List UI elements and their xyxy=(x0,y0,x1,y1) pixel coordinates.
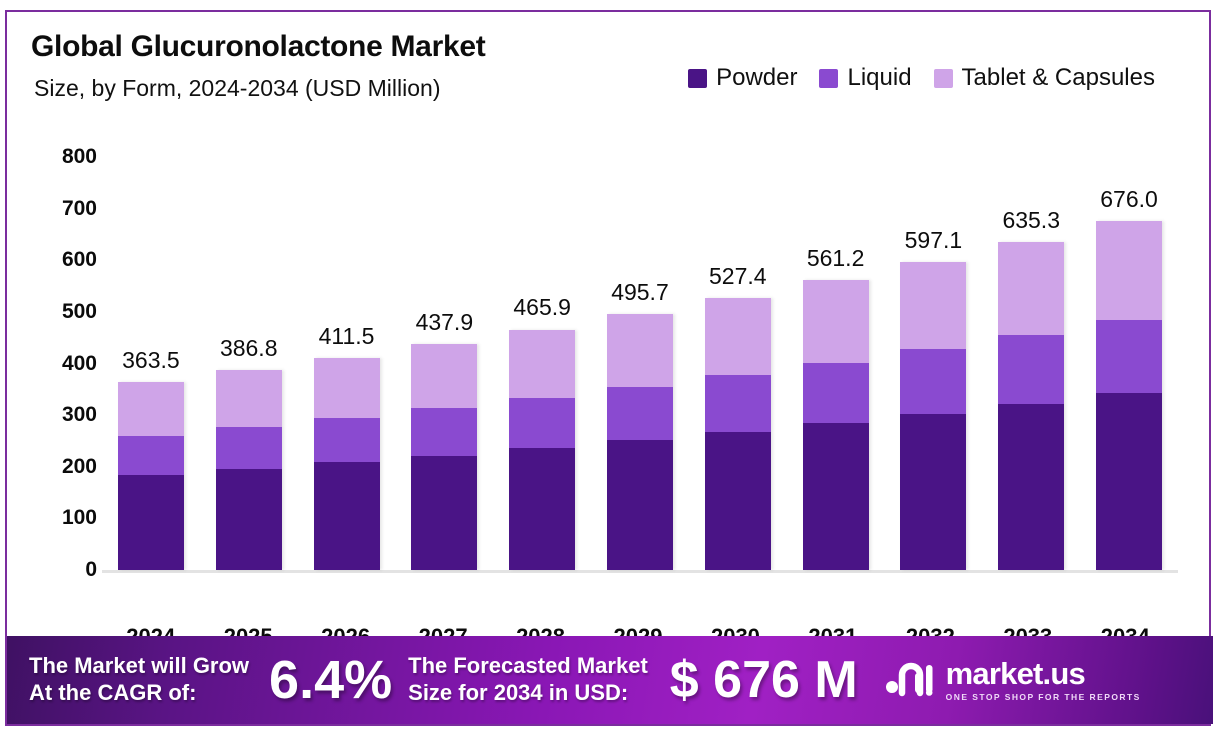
legend-item-tablet-capsules[interactable]: Tablet & Capsules xyxy=(934,64,1155,92)
bar-group[interactable]: 363.5 xyxy=(102,122,200,622)
stacked-bar[interactable] xyxy=(998,242,1064,570)
stacked-bar[interactable] xyxy=(1096,221,1162,570)
bar-value-label: 561.2 xyxy=(807,245,865,272)
legend-item-powder[interactable]: Powder xyxy=(688,64,797,92)
market-us-logo-icon xyxy=(884,659,936,702)
legend-item-liquid[interactable]: Liquid xyxy=(819,64,911,92)
chart-infographic: Global Glucuronolactone Market Size, by … xyxy=(0,0,1216,736)
cagr-value: 6.4% xyxy=(269,649,392,711)
bar-group[interactable]: 597.1 xyxy=(885,122,983,622)
legend-swatch-icon xyxy=(934,69,953,88)
bar-segment-liquid[interactable] xyxy=(803,363,869,424)
summary-banner: The Market will Grow At the CAGR of: 6.4… xyxy=(7,636,1213,724)
chart-legend: PowderLiquidTablet & Capsules xyxy=(688,64,1155,92)
bar-segment-powder[interactable] xyxy=(803,423,869,570)
stacked-bar[interactable] xyxy=(509,330,575,571)
bar-group[interactable]: 465.9 xyxy=(493,122,591,622)
bar-series-container: 363.5386.8411.5437.9465.9495.7527.4561.2… xyxy=(102,122,1178,622)
stacked-bar[interactable] xyxy=(216,370,282,570)
bar-segment-powder[interactable] xyxy=(216,469,282,570)
legend-swatch-icon xyxy=(819,69,838,88)
stacked-bar[interactable] xyxy=(803,280,869,570)
bar-segment-liquid[interactable] xyxy=(705,375,771,432)
legend-label: Liquid xyxy=(847,64,911,92)
legend-label: Tablet & Capsules xyxy=(962,64,1155,92)
chart-plot-area: 8007006005004003002001000 363.5386.8411.… xyxy=(7,122,1213,622)
bar-group[interactable]: 437.9 xyxy=(395,122,493,622)
bar-value-label: 597.1 xyxy=(905,227,963,254)
bar-segment-liquid[interactable] xyxy=(509,398,575,448)
bar-value-label: 527.4 xyxy=(709,263,767,290)
y-axis-tick: 0 xyxy=(17,558,97,582)
bar-segment-liquid[interactable] xyxy=(118,436,184,475)
stacked-bar[interactable] xyxy=(118,382,184,570)
forecast-label: The Forecasted Market Size for 2034 in U… xyxy=(408,653,648,707)
y-axis-tick: 400 xyxy=(17,352,97,376)
bar-segment-liquid[interactable] xyxy=(900,349,966,413)
cagr-label-line1: The Market will Grow xyxy=(29,653,249,680)
logo-name: market.us xyxy=(946,658,1141,689)
chart-frame: Global Glucuronolactone Market Size, by … xyxy=(5,10,1211,726)
cagr-label: The Market will Grow At the CAGR of: xyxy=(29,653,249,707)
bar-segment-tablet-capsules[interactable] xyxy=(998,242,1064,335)
stacked-bar[interactable] xyxy=(900,262,966,570)
cagr-label-line2: At the CAGR of: xyxy=(29,680,249,707)
bar-segment-tablet-capsules[interactable] xyxy=(705,298,771,375)
bar-value-label: 437.9 xyxy=(416,309,474,336)
bar-segment-tablet-capsules[interactable] xyxy=(118,382,184,435)
bar-segment-powder[interactable] xyxy=(705,432,771,570)
bar-value-label: 676.0 xyxy=(1100,186,1158,213)
legend-swatch-icon xyxy=(688,69,707,88)
bar-segment-tablet-capsules[interactable] xyxy=(216,370,282,427)
forecast-label-line2: Size for 2034 in USD: xyxy=(408,680,648,707)
bar-value-label: 635.3 xyxy=(1002,207,1060,234)
y-axis: 8007006005004003002001000 xyxy=(7,122,97,622)
forecast-label-line1: The Forecasted Market xyxy=(408,653,648,680)
bar-segment-tablet-capsules[interactable] xyxy=(411,344,477,408)
market-us-logo[interactable]: market.us ONE STOP SHOP FOR THE REPORTS xyxy=(884,658,1141,702)
bar-value-label: 386.8 xyxy=(220,335,278,362)
bar-group[interactable]: 676.0 xyxy=(1080,122,1178,622)
y-axis-tick: 100 xyxy=(17,506,97,530)
bar-group[interactable]: 527.4 xyxy=(689,122,787,622)
stacked-bar[interactable] xyxy=(314,358,380,570)
bar-segment-powder[interactable] xyxy=(411,456,477,570)
chart-header: Global Glucuronolactone Market Size, by … xyxy=(7,12,1209,122)
bar-segment-powder[interactable] xyxy=(314,462,380,570)
y-axis-tick: 700 xyxy=(17,197,97,221)
stacked-bar[interactable] xyxy=(607,314,673,570)
bar-segment-powder[interactable] xyxy=(607,440,673,570)
bar-value-label: 411.5 xyxy=(319,323,375,350)
market-us-logo-text: market.us ONE STOP SHOP FOR THE REPORTS xyxy=(946,658,1141,702)
bar-group[interactable]: 495.7 xyxy=(591,122,689,622)
page-title: Global Glucuronolactone Market xyxy=(31,30,485,64)
bar-group[interactable]: 561.2 xyxy=(787,122,885,622)
bar-group[interactable]: 411.5 xyxy=(298,122,396,622)
bar-value-label: 495.7 xyxy=(611,279,669,306)
bar-value-label: 363.5 xyxy=(122,347,180,374)
bar-group[interactable]: 635.3 xyxy=(982,122,1080,622)
bar-value-label: 465.9 xyxy=(513,294,571,321)
bar-segment-liquid[interactable] xyxy=(216,427,282,469)
y-axis-tick: 500 xyxy=(17,300,97,324)
y-axis-tick: 300 xyxy=(17,403,97,427)
forecast-value: $ 676 M xyxy=(670,650,858,710)
bar-segment-powder[interactable] xyxy=(509,448,575,570)
bar-segment-liquid[interactable] xyxy=(314,418,380,462)
legend-label: Powder xyxy=(716,64,797,92)
bar-segment-tablet-capsules[interactable] xyxy=(607,314,673,387)
bar-segment-tablet-capsules[interactable] xyxy=(509,330,575,398)
y-axis-tick: 600 xyxy=(17,248,97,272)
bar-segment-powder[interactable] xyxy=(998,404,1064,570)
bar-segment-liquid[interactable] xyxy=(998,335,1064,404)
bar-segment-powder[interactable] xyxy=(118,475,184,570)
bar-group[interactable]: 386.8 xyxy=(200,122,298,622)
bar-segment-tablet-capsules[interactable] xyxy=(900,262,966,350)
stacked-bar[interactable] xyxy=(411,344,477,570)
bar-segment-liquid[interactable] xyxy=(1096,320,1162,393)
bar-segment-tablet-capsules[interactable] xyxy=(314,358,380,419)
bar-segment-liquid[interactable] xyxy=(607,387,673,440)
logo-tagline: ONE STOP SHOP FOR THE REPORTS xyxy=(946,692,1141,702)
stacked-bar[interactable] xyxy=(705,298,771,570)
y-axis-tick: 200 xyxy=(17,455,97,479)
bar-segment-powder[interactable] xyxy=(1096,393,1162,570)
y-axis-tick: 800 xyxy=(17,145,97,169)
bar-segment-liquid[interactable] xyxy=(411,408,477,455)
page-subtitle: Size, by Form, 2024-2034 (USD Million) xyxy=(34,75,440,102)
bar-segment-tablet-capsules[interactable] xyxy=(803,280,869,362)
bar-segment-tablet-capsules[interactable] xyxy=(1096,221,1162,320)
bar-segment-powder[interactable] xyxy=(900,414,966,570)
